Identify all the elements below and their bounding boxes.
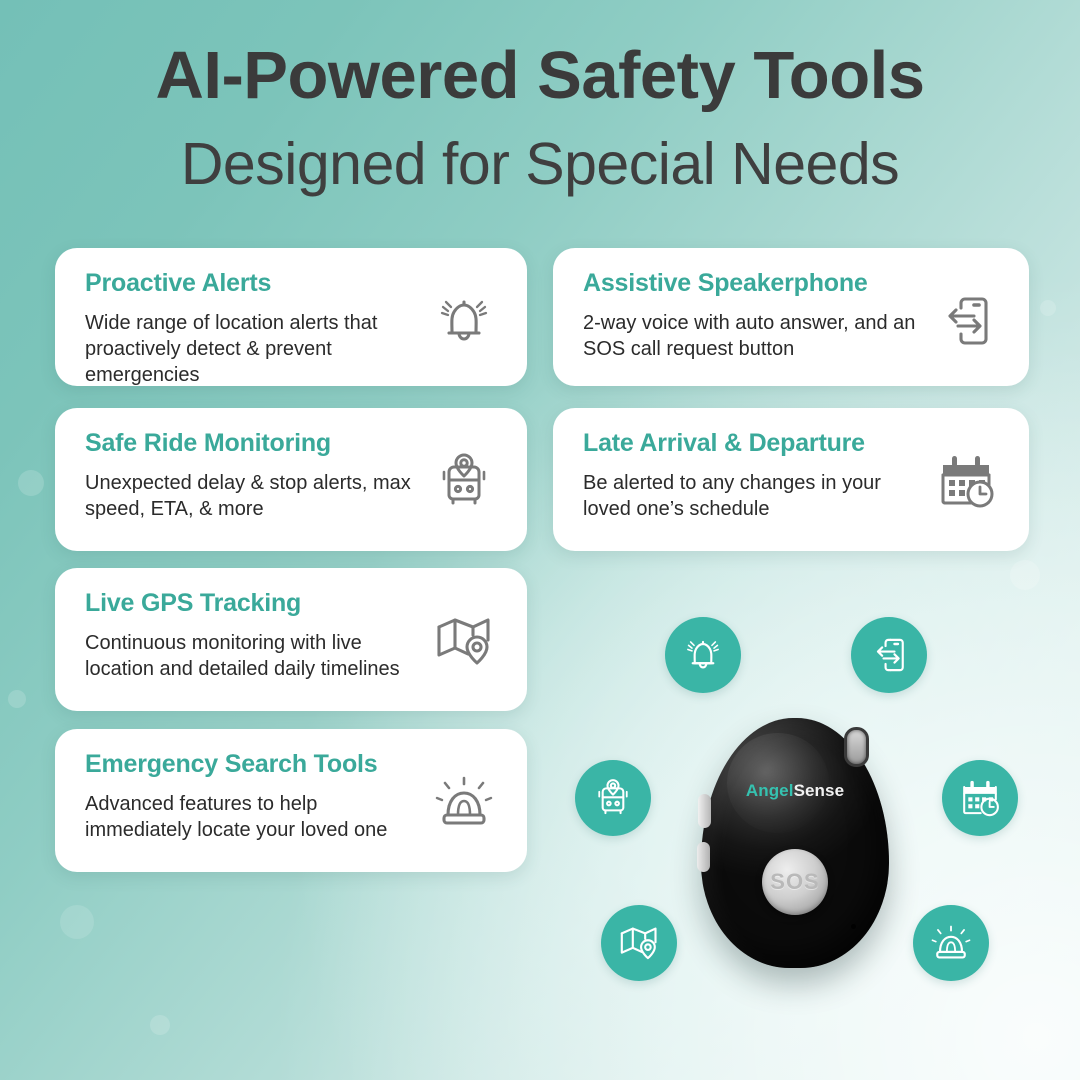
feature-card-assistive-speakerphone[interactable]: Assistive Speakerphone 2-way voice with …	[553, 248, 1029, 386]
card-text: Assistive Speakerphone 2-way voice with …	[583, 270, 923, 362]
badge-calendar-clock-icon[interactable]	[942, 760, 1018, 836]
badge-bell-icon[interactable]	[665, 617, 741, 693]
card-title: Proactive Alerts	[85, 270, 421, 298]
phone-two-way-icon	[929, 284, 1003, 358]
bus-location-icon	[427, 444, 501, 518]
bell-icon	[427, 284, 501, 358]
brand-logo-first: Angel	[746, 781, 794, 800]
card-title: Emergency Search Tools	[85, 751, 421, 779]
bokeh-dot	[60, 905, 94, 939]
card-text: Safe Ride Monitoring Unexpected delay & …	[85, 430, 421, 522]
angelsense-gps-device: AngelSense SOS	[701, 718, 889, 968]
microphone-hole	[851, 924, 856, 929]
device-side-button-lower[interactable]	[697, 842, 710, 872]
product-showcase: AngelSense SOS	[553, 590, 1053, 1060]
sos-button-label: SOS	[770, 869, 819, 895]
header: AI-Powered Safety Tools Designed for Spe…	[0, 42, 1080, 194]
card-description: Unexpected delay & stop alerts, max spee…	[85, 470, 421, 523]
card-description: Be alerted to any changes in your loved …	[583, 470, 923, 523]
calendar-clock-icon	[929, 444, 1003, 518]
page-title: AI-Powered Safety Tools	[0, 42, 1080, 109]
card-title: Late Arrival & Departure	[583, 430, 923, 458]
feature-card-safe-ride-monitoring[interactable]: Safe Ride Monitoring Unexpected delay & …	[55, 408, 527, 551]
feature-card-proactive-alerts[interactable]: Proactive Alerts Wide range of location …	[55, 248, 527, 386]
card-description: Advanced features to help immediately lo…	[85, 791, 421, 844]
feature-card-live-gps-tracking[interactable]: Live GPS Tracking Continuous monitoring …	[55, 568, 527, 711]
card-title: Safe Ride Monitoring	[85, 430, 421, 458]
card-text: Late Arrival & Departure Be alerted to a…	[583, 430, 923, 522]
map-pin-icon	[427, 604, 501, 678]
card-title: Live GPS Tracking	[85, 590, 421, 618]
brand-logo: AngelSense	[701, 781, 889, 801]
badge-siren-icon[interactable]	[913, 905, 989, 981]
badge-bus-location-icon[interactable]	[575, 760, 651, 836]
feature-card-late-arrival-departure[interactable]: Late Arrival & Departure Be alerted to a…	[553, 408, 1029, 551]
card-title: Assistive Speakerphone	[583, 270, 923, 298]
siren-icon	[427, 765, 501, 839]
card-description: Continuous monitoring with live location…	[85, 630, 421, 683]
card-text: Proactive Alerts Wide range of location …	[85, 270, 421, 389]
card-description: 2-way voice with auto answer, and an SOS…	[583, 310, 923, 363]
sos-button[interactable]: SOS	[762, 849, 828, 915]
page-subtitle: Designed for Special Needs	[0, 135, 1080, 194]
lanyard-loop	[844, 727, 869, 767]
badge-phone-two-way-icon[interactable]	[851, 617, 927, 693]
infographic-canvas: AI-Powered Safety Tools Designed for Spe…	[0, 0, 1080, 1080]
brand-logo-second: Sense	[794, 781, 845, 800]
card-text: Emergency Search Tools Advanced features…	[85, 751, 421, 843]
card-description: Wide range of location alerts that proac…	[85, 310, 421, 389]
bokeh-dot	[150, 1015, 170, 1035]
badge-map-pin-icon[interactable]	[601, 905, 677, 981]
card-text: Live GPS Tracking Continuous monitoring …	[85, 590, 421, 682]
feature-card-emergency-search-tools[interactable]: Emergency Search Tools Advanced features…	[55, 729, 527, 872]
